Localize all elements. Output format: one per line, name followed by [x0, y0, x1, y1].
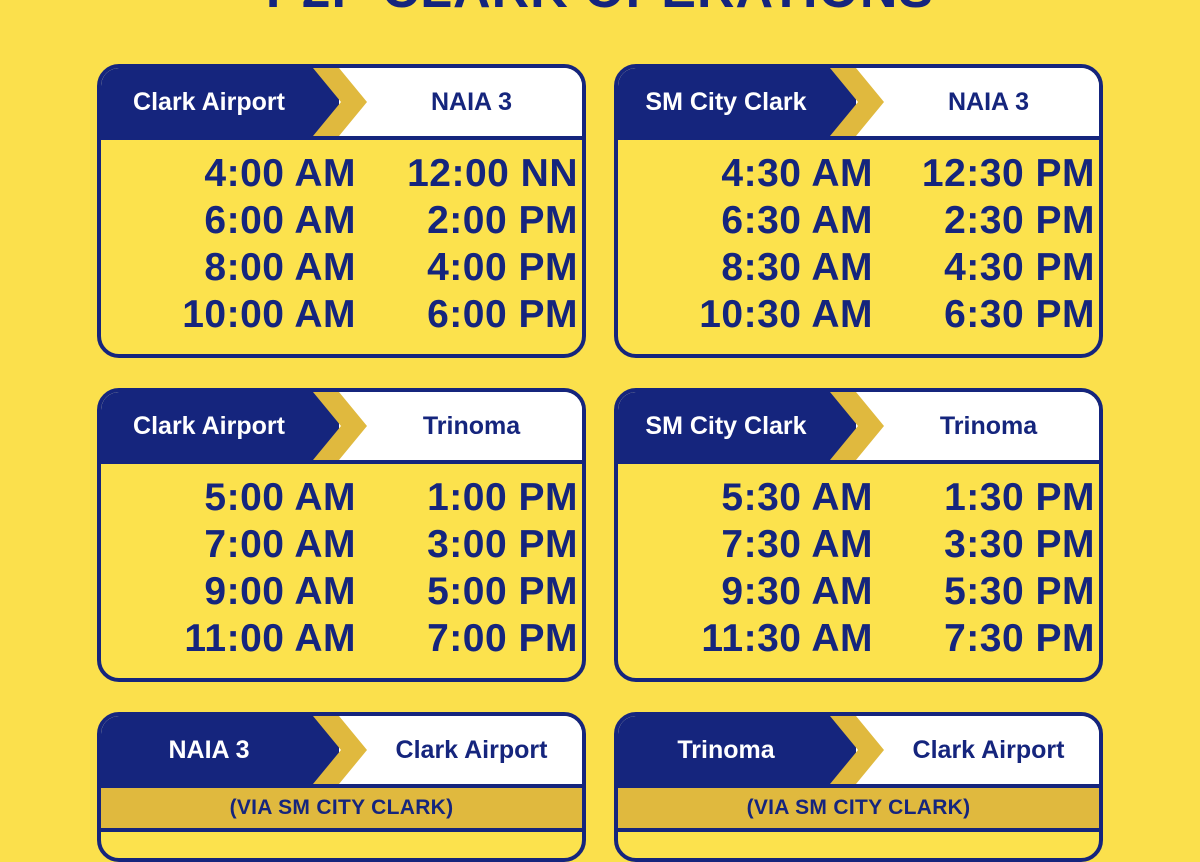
departure-time-afternoon: 5:00 PM [356, 570, 578, 614]
route-header: TrinomaClark Airport [618, 716, 1099, 788]
route-card: Clark AirportTrinoma5:00 AM1:00 PM7:00 A… [97, 388, 586, 682]
route-card: TrinomaClark Airport(VIA SM CITY CLARK) [614, 712, 1103, 862]
departure-time-afternoon: 6:00 PM [356, 293, 578, 337]
schedule-row: 9:00 AM5:00 PM [101, 570, 582, 617]
schedule-row: 6:30 AM2:30 PM [618, 199, 1099, 246]
departure-time-morning: 11:00 AM [101, 617, 356, 661]
route-origin: Clark Airport [101, 68, 323, 136]
departure-time-morning: 8:30 AM [618, 246, 873, 290]
route-origin: SM City Clark [618, 68, 840, 136]
schedule-row: 8:00 AM4:00 PM [101, 246, 582, 293]
schedule-row: 5:30 AM1:30 PM [618, 476, 1099, 523]
schedule-row: 6:00 AM2:00 PM [101, 199, 582, 246]
route-via-note: (VIA SM CITY CLARK) [101, 788, 582, 832]
schedule-times [618, 832, 1099, 858]
departure-time-afternoon: 4:30 PM [873, 246, 1095, 290]
route-destination: Clark Airport [888, 716, 1099, 784]
route-origin: Clark Airport [101, 392, 323, 460]
departure-time-morning: 7:30 AM [618, 523, 873, 567]
departure-time-morning: 9:00 AM [101, 570, 356, 614]
departure-time-morning: 10:30 AM [618, 293, 873, 337]
route-card: SM City ClarkTrinoma5:30 AM1:30 PM7:30 A… [614, 388, 1103, 682]
departure-time-afternoon: 7:30 PM [873, 617, 1095, 661]
chevron-right-icon [830, 68, 888, 136]
departure-time-afternoon: 12:00 NN [356, 152, 578, 196]
departure-time-morning: 5:00 AM [101, 476, 356, 520]
route-header: SM City ClarkTrinoma [618, 392, 1099, 464]
chevron-right-icon [313, 68, 371, 136]
route-header: Clark AirportTrinoma [101, 392, 582, 464]
route-origin: Trinoma [618, 716, 840, 784]
schedule-times [101, 832, 582, 858]
route-card: NAIA 3Clark Airport(VIA SM CITY CLARK) [97, 712, 586, 862]
departure-time-morning: 6:30 AM [618, 199, 873, 243]
route-header: SM City ClarkNAIA 3 [618, 68, 1099, 140]
departure-time-afternoon: 3:30 PM [873, 523, 1095, 567]
route-header: NAIA 3Clark Airport [101, 716, 582, 788]
chevron-right-icon [313, 716, 371, 784]
departure-time-afternoon: 12:30 PM [873, 152, 1095, 196]
schedule-times: 4:30 AM12:30 PM6:30 AM2:30 PM8:30 AM4:30… [618, 140, 1099, 354]
chevron-right-icon [830, 716, 888, 784]
departure-time-morning: 11:30 AM [618, 617, 873, 661]
departure-time-morning: 6:00 AM [101, 199, 356, 243]
route-destination: Trinoma [371, 392, 582, 460]
departure-time-morning: 4:30 AM [618, 152, 873, 196]
schedule-times: 5:00 AM1:00 PM7:00 AM3:00 PM9:00 AM5:00 … [101, 464, 582, 678]
chevron-right-icon [830, 392, 888, 460]
departure-time-afternoon: 4:00 PM [356, 246, 578, 290]
route-card: Clark AirportNAIA 34:00 AM12:00 NN6:00 A… [97, 64, 586, 358]
departure-time-afternoon: 7:00 PM [356, 617, 578, 661]
departure-time-afternoon: 1:30 PM [873, 476, 1095, 520]
departure-time-morning: 5:30 AM [618, 476, 873, 520]
schedule-row: 4:30 AM12:30 PM [618, 152, 1099, 199]
schedule-row: 7:00 AM3:00 PM [101, 523, 582, 570]
schedule-row: 10:00 AM6:00 PM [101, 293, 582, 340]
route-destination: NAIA 3 [888, 68, 1099, 136]
departure-time-morning: 4:00 AM [101, 152, 356, 196]
departure-time-morning: 9:30 AM [618, 570, 873, 614]
departure-time-afternoon: 3:00 PM [356, 523, 578, 567]
departure-time-afternoon: 2:00 PM [356, 199, 578, 243]
departure-time-morning: 7:00 AM [101, 523, 356, 567]
departure-time-afternoon: 2:30 PM [873, 199, 1095, 243]
departure-time-morning: 8:00 AM [101, 246, 356, 290]
schedule-times: 5:30 AM1:30 PM7:30 AM3:30 PM9:30 AM5:30 … [618, 464, 1099, 678]
route-destination: NAIA 3 [371, 68, 582, 136]
departure-time-afternoon: 1:00 PM [356, 476, 578, 520]
schedule-row: 11:00 AM7:00 PM [101, 617, 582, 664]
schedule-times: 4:00 AM12:00 NN6:00 AM2:00 PM8:00 AM4:00… [101, 140, 582, 354]
schedule-row: 8:30 AM4:30 PM [618, 246, 1099, 293]
route-destination: Clark Airport [371, 716, 582, 784]
departure-time-afternoon: 5:30 PM [873, 570, 1095, 614]
departure-time-morning: 10:00 AM [101, 293, 356, 337]
departure-time-afternoon: 6:30 PM [873, 293, 1095, 337]
route-via-note: (VIA SM CITY CLARK) [618, 788, 1099, 832]
route-origin: SM City Clark [618, 392, 840, 460]
route-card: SM City ClarkNAIA 34:30 AM12:30 PM6:30 A… [614, 64, 1103, 358]
schedule-board: Clark AirportNAIA 34:00 AM12:00 NN6:00 A… [97, 64, 1103, 862]
route-header: Clark AirportNAIA 3 [101, 68, 582, 140]
schedule-row: 7:30 AM3:30 PM [618, 523, 1099, 570]
schedule-row: 5:00 AM1:00 PM [101, 476, 582, 523]
page-title: P2P CLARK OPERATIONS [0, 0, 1200, 16]
schedule-row: 4:00 AM12:00 NN [101, 152, 582, 199]
route-origin: NAIA 3 [101, 716, 323, 784]
schedule-row: 11:30 AM7:30 PM [618, 617, 1099, 664]
chevron-right-icon [313, 392, 371, 460]
schedule-row: 9:30 AM5:30 PM [618, 570, 1099, 617]
route-destination: Trinoma [888, 392, 1099, 460]
schedule-row: 10:30 AM6:30 PM [618, 293, 1099, 340]
